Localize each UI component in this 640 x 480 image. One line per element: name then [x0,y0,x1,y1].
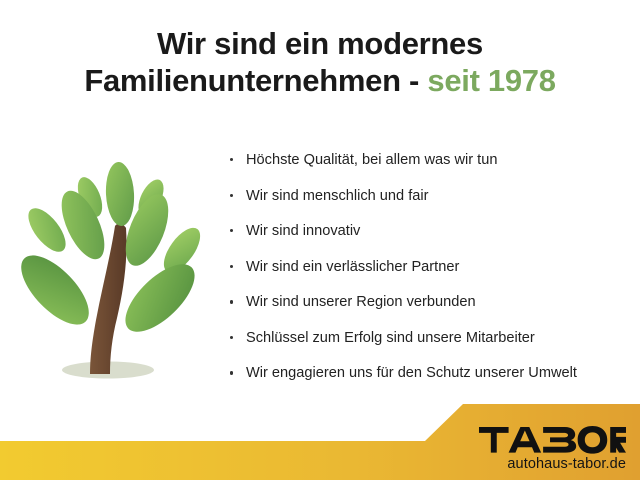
bullet-dot-icon [230,158,233,161]
list-item: Wir sind innovativ [228,223,640,239]
list-item-label: Wir engagieren uns für den Schutz unsere… [246,365,577,381]
headline-line-1: Wir sind ein modernes [0,26,640,63]
list-item: Wir sind menschlich und fair [228,188,640,204]
list-item: Wir sind unserer Region verbunden [228,294,640,310]
tree-leaf [114,253,205,343]
bullet-dot-icon [230,371,233,374]
bullet-dot-icon [230,265,233,268]
brand-logo[interactable]: autohaus-tabor.de [436,426,626,472]
headline-accent-year: seit 1978 [427,63,555,98]
headline-line-2-main: Familienunternehmen - [84,63,427,98]
logo-tagline: autohaus-tabor.de [436,456,626,472]
page-title: Wir sind ein modernes Familienunternehme… [0,26,640,99]
slide-canvas: Wir sind ein modernes Familienunternehme… [0,0,640,480]
list-item-label: Wir sind innovativ [246,223,360,239]
list-item-label: Wir sind unserer Region verbunden [246,294,476,310]
bullet-dot-icon [230,336,233,339]
tabor-wordmark-icon [478,426,626,454]
tree-icon [14,162,214,390]
list-item-label: Wir sind menschlich und fair [246,188,429,204]
tree-leaf [104,162,135,227]
bullet-dot-icon [230,300,233,303]
list-item-label: Schlüssel zum Erfolg sind unsere Mitarbe… [246,330,535,346]
list-item-label: Wir sind ein verlässlicher Partner [246,259,459,275]
list-item: Wir engagieren uns für den Schutz unsere… [228,365,640,381]
value-bullet-list: Höchste Qualität, bei allem was wir tun … [228,152,640,401]
list-item: Wir sind ein verlässlicher Partner [228,259,640,275]
headline-line-2: Familienunternehmen - seit 1978 [0,63,640,100]
bullet-dot-icon [230,194,233,197]
list-item-label: Höchste Qualität, bei allem was wir tun [246,152,497,168]
bullet-dot-icon [230,229,233,232]
list-item: Höchste Qualität, bei allem was wir tun [228,152,640,168]
list-item: Schlüssel zum Erfolg sind unsere Mitarbe… [228,330,640,346]
tree-leaf [14,244,100,335]
